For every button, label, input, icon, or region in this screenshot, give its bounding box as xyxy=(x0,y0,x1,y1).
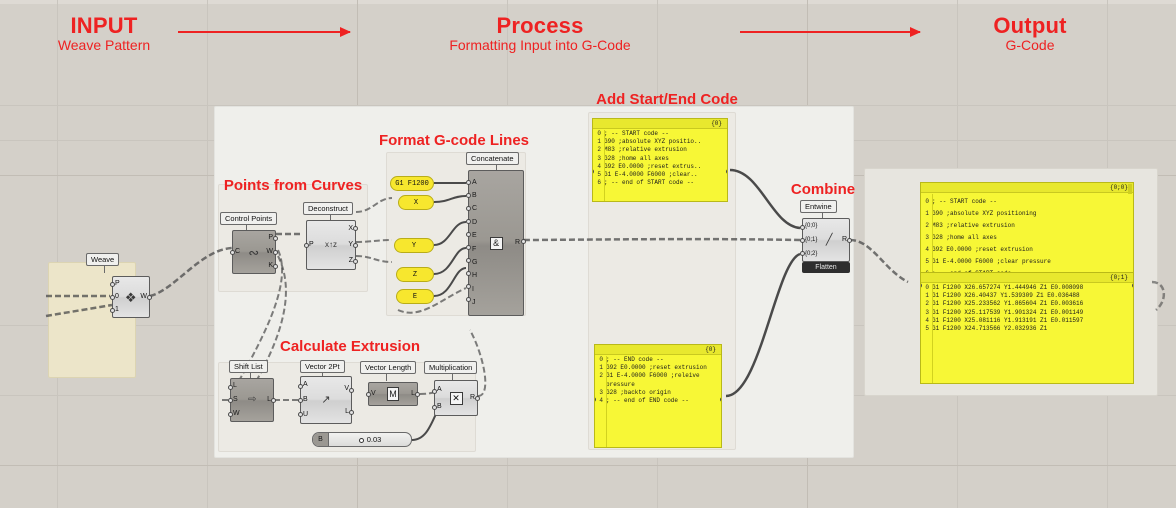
vectorlength-icon: M xyxy=(387,387,399,401)
title-format-gcode: Format G-code Lines xyxy=(366,132,542,149)
panel-row: 2G1 E-4.0000 F6000 ;releive pressure xyxy=(595,372,721,388)
entwine-input-0-1[interactable]: {0;1} xyxy=(805,236,817,244)
banner-process: Process Formatting Input into G-Code xyxy=(415,14,665,53)
port-nub[interactable] xyxy=(349,388,354,393)
row-index: 1 xyxy=(593,138,604,146)
tag-control-points: Control Points xyxy=(220,212,277,225)
component-control-points[interactable]: C ∾ P W K xyxy=(232,230,276,274)
panel-output-header-b: {0;1} xyxy=(921,273,1133,283)
row-text: G1 F1200 X25.117539 Y1.901324 Z1 E0.0011… xyxy=(932,309,1133,317)
port-nub[interactable] xyxy=(147,295,152,300)
value-panel-g1f1200[interactable]: G1 F1200 xyxy=(390,176,434,191)
row-index: 1 xyxy=(921,208,932,220)
panel-row: 1G90 ;absolute XYZ positioning xyxy=(921,208,1133,220)
row-text: M83 ;relative extrusion xyxy=(604,146,727,154)
port-nub[interactable] xyxy=(298,384,303,389)
title-combine: Combine xyxy=(786,181,860,198)
row-index: 0 xyxy=(595,356,606,364)
panel-row: 0; -- START code -- xyxy=(921,196,1133,208)
title-calculate-extrusion: Calculate Extrusion xyxy=(280,338,420,355)
port-nub[interactable] xyxy=(466,180,471,185)
port-nub[interactable] xyxy=(298,412,303,417)
row-index: 0 xyxy=(921,196,932,208)
port-nub[interactable] xyxy=(800,225,805,230)
row-text: G92 E0.0000 ;reset extrusion xyxy=(606,364,721,372)
concatenate-input-g[interactable]: G xyxy=(472,259,477,267)
multiply-icon: ✕ xyxy=(450,392,463,405)
panel-end-code-header: {0} xyxy=(595,345,721,355)
slider-value: 0.03 xyxy=(367,435,382,444)
port-nub[interactable] xyxy=(366,392,371,397)
port-nub[interactable] xyxy=(475,396,480,401)
row-text: G90 ;absolute XYZ positioning xyxy=(932,208,1133,220)
tag-stem xyxy=(104,266,105,273)
panel-row: 1G90 ;absolute XYZ positio.. xyxy=(593,138,727,146)
port-nub[interactable] xyxy=(466,206,471,211)
row-index: 6 xyxy=(593,179,604,187)
banner-input-subtitle: Weave Pattern xyxy=(24,38,184,53)
entwine-body: ╱ xyxy=(819,219,839,261)
panel-row: 4G92 E0.0000 ;reset extrus.. xyxy=(593,163,727,171)
row-text: G90 ;absolute XYZ positio.. xyxy=(604,138,727,146)
port-nub[interactable] xyxy=(466,258,471,263)
grid-line-h xyxy=(0,465,1176,466)
tag-concatenate: Concatenate xyxy=(466,152,519,165)
port-nub[interactable] xyxy=(353,243,358,248)
panel-gutter xyxy=(604,130,605,201)
row-index: 4 xyxy=(921,244,932,256)
slider-value-wrap[interactable]: 0.03 xyxy=(329,435,411,444)
arrow-process-to-output xyxy=(740,31,920,33)
row-index: 1 xyxy=(921,292,932,300)
panel-start-code-rows: 0; -- START code -- 1G90 ;absolute XYZ p… xyxy=(593,129,727,188)
shift-list-input-w[interactable]: W xyxy=(233,410,240,418)
concatenate-input-i[interactable]: I xyxy=(472,286,474,294)
banner-process-subtitle: Formatting Input into G-Code xyxy=(415,38,665,53)
panel-row: 2G1 F1200 X25.233562 Y1.865604 Z1 E0.003… xyxy=(921,300,1133,308)
panel-row: 3G28 ;home all axes xyxy=(593,155,727,163)
panel-row: 4G1 F1200 X25.081116 Y1.913191 Z1 E0.011… xyxy=(921,317,1133,325)
component-deconstruct[interactable]: P x↑z X Y Z xyxy=(306,220,356,270)
row-index: 2 xyxy=(595,372,606,380)
port-nub[interactable] xyxy=(726,169,728,174)
row-index: 4 xyxy=(593,163,604,171)
row-text: G1 F1200 X25.233562 Y1.865604 Z1 E0.0036… xyxy=(932,300,1133,308)
panel-row: 3G28 ;backto origin xyxy=(595,389,721,397)
row-text: G28 ;home all axes xyxy=(932,232,1133,244)
title-points-from-curves: Points from Curves xyxy=(213,177,373,194)
port-nub[interactable] xyxy=(273,250,278,255)
row-text: G92 E0.0000 ;reset extrusion xyxy=(932,244,1133,256)
panel-row: 0; -- END code -- xyxy=(595,356,721,364)
tag-deconstruct: Deconstruct xyxy=(303,202,353,215)
banner-output: Output G-Code xyxy=(950,14,1110,53)
weave-icon: ❖ xyxy=(125,291,137,304)
panel-end-code[interactable]: {0} 0; -- END code -- 1G92 E0.0000 ;rese… xyxy=(594,344,722,448)
port-nub[interactable] xyxy=(353,259,358,264)
shift-list-input-s[interactable]: S xyxy=(233,396,238,404)
entwine-input-0-0[interactable]: {0;0} xyxy=(805,222,817,230)
panel-scrollbar[interactable] xyxy=(1128,184,1132,194)
row-text: G1 F1200 X25.081116 Y1.913191 Z1 E0.0115… xyxy=(932,317,1133,325)
concatenate-input-a[interactable]: A xyxy=(472,179,477,187)
weave-output-w[interactable]: W xyxy=(140,293,147,301)
number-slider[interactable]: B 0.03 xyxy=(312,432,412,447)
panel-gutter xyxy=(932,194,933,281)
concatenate-input-h[interactable]: H xyxy=(472,272,477,280)
port-nub[interactable] xyxy=(466,271,471,276)
row-text: M83 ;relative extrusion xyxy=(932,220,1133,232)
row-text: ; -- end of END code -- xyxy=(606,397,721,405)
panel-output-start[interactable]: {0;0} 0; -- START code -- 1G90 ;absolute… xyxy=(920,182,1134,282)
panel-gutter xyxy=(932,284,933,383)
row-index: 3 xyxy=(921,232,932,244)
port-nub[interactable] xyxy=(521,239,526,244)
vector-length-body: M xyxy=(379,383,407,405)
row-index: 1 xyxy=(595,364,606,372)
grid-line-v xyxy=(207,0,208,508)
port-nub[interactable] xyxy=(800,251,805,256)
shift-list-body: ⇨ xyxy=(242,379,263,421)
tag-stem xyxy=(386,374,387,381)
concatenate-input-j[interactable]: J xyxy=(472,299,476,307)
row-index: 3 xyxy=(595,389,606,397)
row-text: G1 E-4.0000 F6000 ;releive pressure xyxy=(606,372,721,388)
panel-row: 5G1 E-4.0000 F6000 ;clear.. xyxy=(593,171,727,179)
control-points-output-w[interactable]: W xyxy=(266,248,273,256)
concatenate-input-c[interactable]: C xyxy=(472,205,477,213)
tag-multiplication: Multiplication xyxy=(424,361,477,374)
vector-2pt-body: ↗ xyxy=(311,377,341,423)
port-nub[interactable] xyxy=(110,295,115,300)
panel-output-rows-a: 0; -- START code -- 1G90 ;absolute XYZ p… xyxy=(921,193,1133,281)
component-multiplication[interactable]: A B ✕ R xyxy=(434,380,478,416)
panel-row: 2M83 ;relative extrusion xyxy=(921,220,1133,232)
row-text: ; -- END code -- xyxy=(606,356,721,364)
concatenate-inputs: A B C D E F G H I J xyxy=(469,171,480,315)
panel-row: 3G28 ;home all axes xyxy=(921,232,1133,244)
panel-row: 6; -- end of START code -- xyxy=(593,179,727,187)
row-index: 5 xyxy=(921,256,932,268)
panel-end-code-rows: 0; -- END code -- 1G92 E0.0000 ;reset ex… xyxy=(595,355,721,406)
row-text: G1 F1200 X26.657274 Y1.444946 Z1 E0.0080… xyxy=(932,284,1133,292)
title-add-start-end: Add Start/End Code xyxy=(587,91,747,108)
row-index: 3 xyxy=(921,309,932,317)
component-concatenate[interactable]: A B C D E F G H I J & R xyxy=(468,170,524,316)
value-panel-y[interactable]: Y xyxy=(394,238,434,253)
banner-input: INPUT Weave Pattern xyxy=(24,14,184,53)
panel-row: 1G92 E0.0000 ;reset extrusion xyxy=(595,364,721,372)
panel-row: 1G1 F1200 X26.40437 Y1.539309 Z1 E0.0364… xyxy=(921,292,1133,300)
vector-icon: ↗ xyxy=(321,395,330,406)
panel-row: 4; -- end of END code -- xyxy=(595,397,721,405)
row-text: G28 ;home all axes xyxy=(604,155,727,163)
panel-row: 4G92 E0.0000 ;reset extrusion xyxy=(921,244,1133,256)
port-nub[interactable] xyxy=(230,250,235,255)
slider-label: B xyxy=(313,433,329,446)
concatenate-output-r[interactable]: R xyxy=(515,239,520,247)
curve-icon: ∾ xyxy=(248,246,259,259)
port-nub[interactable] xyxy=(466,245,471,250)
tag-weave: Weave xyxy=(86,253,119,266)
panel-start-code-header: {0} xyxy=(593,119,727,129)
vector-length-input-v[interactable]: V xyxy=(371,390,376,398)
panel-row: 0; -- START code -- xyxy=(593,130,727,138)
port-nub[interactable] xyxy=(228,385,233,390)
weave-body: ❖ xyxy=(123,277,138,317)
entwine-inputs: {0;0} {0;1} {0;2} xyxy=(803,219,819,261)
row-index: 3 xyxy=(593,155,604,163)
concatenate-input-f[interactable]: F xyxy=(472,246,476,254)
port-nub[interactable] xyxy=(353,226,358,231)
row-text: G1 F1200 X24.713566 Y2.032936 Z1 xyxy=(932,325,1133,333)
port-nub[interactable] xyxy=(800,238,805,243)
row-index: 2 xyxy=(921,300,932,308)
port-nub[interactable] xyxy=(432,405,437,410)
shift-icon: ⇨ xyxy=(248,395,256,405)
row-text: G1 F1200 X26.40437 Y1.539309 Z1 E0.03648… xyxy=(932,292,1133,300)
port-nub[interactable] xyxy=(466,193,471,198)
row-index: 5 xyxy=(921,325,932,333)
row-text: ; -- START code -- xyxy=(932,196,1133,208)
row-index: 2 xyxy=(593,146,604,154)
panel-row: 2M83 ;relative extrusion xyxy=(593,146,727,154)
panel-row: 5G1 F1200 X24.713566 Y2.032936 Z1 xyxy=(921,325,1133,333)
banner-output-subtitle: G-Code xyxy=(950,38,1110,53)
grasshopper-canvas[interactable]: INPUT Weave Pattern Process Formatting I… xyxy=(0,0,1176,508)
banner-process-title: Process xyxy=(415,14,665,38)
deconstruct-input-p[interactable]: P xyxy=(309,241,314,249)
row-text: G92 E0.0000 ;reset extrus.. xyxy=(604,163,727,171)
panel-row: 5G1 E-4.0000 F6000 ;clear pressure xyxy=(921,256,1133,268)
port-nub[interactable] xyxy=(228,398,233,403)
value-panel-z[interactable]: Z xyxy=(396,267,434,282)
component-vector-2pt[interactable]: A B U ↗ V L xyxy=(300,376,352,424)
port-nub[interactable] xyxy=(298,398,303,403)
multiplication-input-a[interactable]: A xyxy=(437,386,442,394)
grid-line-v xyxy=(57,0,58,508)
port-nub[interactable] xyxy=(273,264,278,269)
row-text: G1 E-4.0000 F6000 ;clear pressure xyxy=(932,256,1133,268)
row-text: ; -- end of START code -- xyxy=(604,179,727,187)
panel-row: 0G1 F1200 X26.657274 Y1.444946 Z1 E0.008… xyxy=(921,284,1133,292)
banner-output-title: Output xyxy=(950,14,1110,38)
tag-entwine: Entwine xyxy=(800,200,837,213)
panel-gutter xyxy=(606,356,607,447)
vector-2pt-outputs: V L xyxy=(341,377,351,423)
component-entwine[interactable]: {0;0} {0;1} {0;2} ╱ R xyxy=(802,218,850,262)
weave-input-p[interactable]: P xyxy=(115,280,120,288)
row-index: 2 xyxy=(921,220,932,232)
port-nub[interactable] xyxy=(415,392,420,397)
port-nub[interactable] xyxy=(466,284,471,289)
panel-output-rows-b: 0G1 F1200 X26.657274 Y1.444946 Z1 E0.008… xyxy=(921,283,1133,334)
panel-output-header-a: {0;0} xyxy=(921,183,1133,193)
row-text: ; -- START code -- xyxy=(604,130,727,138)
vector-2pt-input-b[interactable]: B xyxy=(303,396,308,404)
port-nub[interactable] xyxy=(110,282,115,287)
row-text: G28 ;backto origin xyxy=(606,389,721,397)
tag-vector-2pt: Vector 2Pt xyxy=(300,360,345,373)
port-nub[interactable] xyxy=(432,389,437,394)
ampersand-icon: & xyxy=(490,237,503,250)
entwine-icon: ╱ xyxy=(826,235,833,246)
panel-start-code[interactable]: {0} 0; -- START code -- 1G90 ;absolute X… xyxy=(592,118,728,202)
concatenate-input-b[interactable]: B xyxy=(472,192,477,200)
row-index: 5 xyxy=(593,171,604,179)
port-nub[interactable] xyxy=(273,236,278,241)
control-points-input-c[interactable]: C xyxy=(235,248,240,256)
component-weave[interactable]: P 0 1 ❖ W xyxy=(112,276,150,318)
tag-shift-list: Shift List xyxy=(229,360,268,373)
value-panel-x[interactable]: X xyxy=(398,195,434,210)
vector-2pt-input-u[interactable]: U xyxy=(303,411,308,419)
component-shift-list[interactable]: L S W ⇨ L xyxy=(230,378,274,422)
weave-input-0[interactable]: 0 xyxy=(115,293,119,301)
row-index: 4 xyxy=(595,397,606,405)
port-nub[interactable] xyxy=(349,410,354,415)
control-points-body: ∾ xyxy=(243,231,264,273)
panel-output-gcode[interactable]: {0;1} 0G1 F1200 X26.657274 Y1.444946 Z1 … xyxy=(920,272,1134,384)
concatenate-body: & xyxy=(480,171,511,315)
multiplication-inputs: A B xyxy=(435,381,445,415)
concatenate-input-e[interactable]: E xyxy=(472,232,477,240)
port-nub[interactable] xyxy=(304,243,309,248)
port-nub[interactable] xyxy=(466,297,471,302)
multiplication-input-b[interactable]: B xyxy=(437,403,442,411)
port-nub[interactable] xyxy=(466,219,471,224)
slider-handle-icon[interactable] xyxy=(359,438,364,443)
xyz-icon: x↑z xyxy=(325,241,337,249)
tag-vector-length: Vector Length xyxy=(360,361,416,374)
component-vector-length[interactable]: V M L xyxy=(368,382,418,406)
row-index: 0 xyxy=(921,284,932,292)
port-nub[interactable] xyxy=(271,398,276,403)
port-nub[interactable] xyxy=(1132,283,1134,288)
row-index: 0 xyxy=(593,130,604,138)
multiplication-body: ✕ xyxy=(445,381,467,415)
port-nub[interactable] xyxy=(466,232,471,237)
weave-input-1[interactable]: 1 xyxy=(115,306,119,314)
concatenate-input-d[interactable]: D xyxy=(472,219,477,227)
entwine-flatten-modifier[interactable]: Flatten xyxy=(802,262,850,273)
entwine-input-0-2[interactable]: {0;2} xyxy=(805,250,817,258)
deconstruct-body: x↑z xyxy=(317,221,345,269)
canvas-top-band xyxy=(0,0,1176,4)
row-text: G1 E-4.0000 F6000 ;clear.. xyxy=(604,171,727,179)
shift-list-input-l[interactable]: L xyxy=(233,382,237,390)
port-nub[interactable] xyxy=(110,308,115,313)
value-panel-e[interactable]: E xyxy=(396,289,434,304)
vector-2pt-input-a[interactable]: A xyxy=(303,381,308,389)
port-nub[interactable] xyxy=(720,397,722,402)
panel-row: 3G1 F1200 X25.117539 Y1.901324 Z1 E0.001… xyxy=(921,309,1133,317)
port-nub[interactable] xyxy=(847,238,852,243)
banner-input-title: INPUT xyxy=(24,14,184,38)
row-index: 4 xyxy=(921,317,932,325)
arrow-input-to-process xyxy=(178,31,350,33)
port-nub[interactable] xyxy=(228,412,233,417)
